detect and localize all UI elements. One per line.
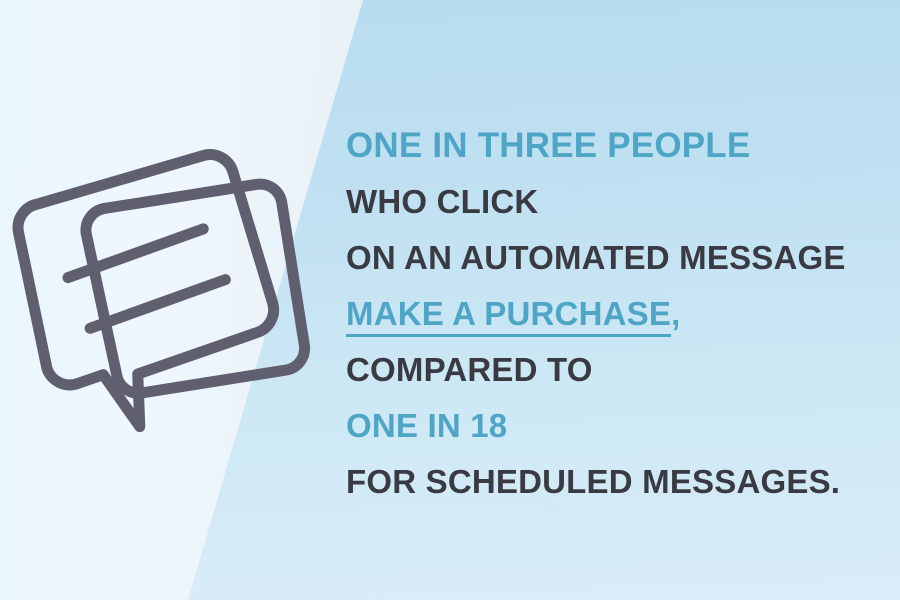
chat-bubbles-illustration — [0, 130, 330, 450]
stat-line-1: ONE IN THREE PEOPLE — [346, 118, 866, 174]
stat-line-2: WHO CLICK — [346, 174, 866, 230]
stat-line-5: COMPARED TO — [346, 342, 866, 398]
bubble-text-line-2 — [86, 280, 230, 329]
stat-line-3: ON AN AUTOMATED MESSAGE — [346, 230, 866, 286]
stat-line-4-comma: , — [671, 295, 680, 332]
stat-line-6: ONE IN 18 — [346, 398, 866, 454]
front-bubble — [11, 148, 291, 442]
stat-line-4-underlined: MAKE A PURCHASE — [346, 295, 671, 337]
stat-line-7: FOR SCHEDULED MESSAGES. — [346, 454, 866, 510]
infographic-canvas: ONE IN THREE PEOPLE WHO CLICK ON AN AUTO… — [0, 0, 900, 600]
statistic-text-block: ONE IN THREE PEOPLE WHO CLICK ON AN AUTO… — [346, 118, 866, 510]
stat-line-4: MAKE A PURCHASE, — [346, 286, 866, 342]
